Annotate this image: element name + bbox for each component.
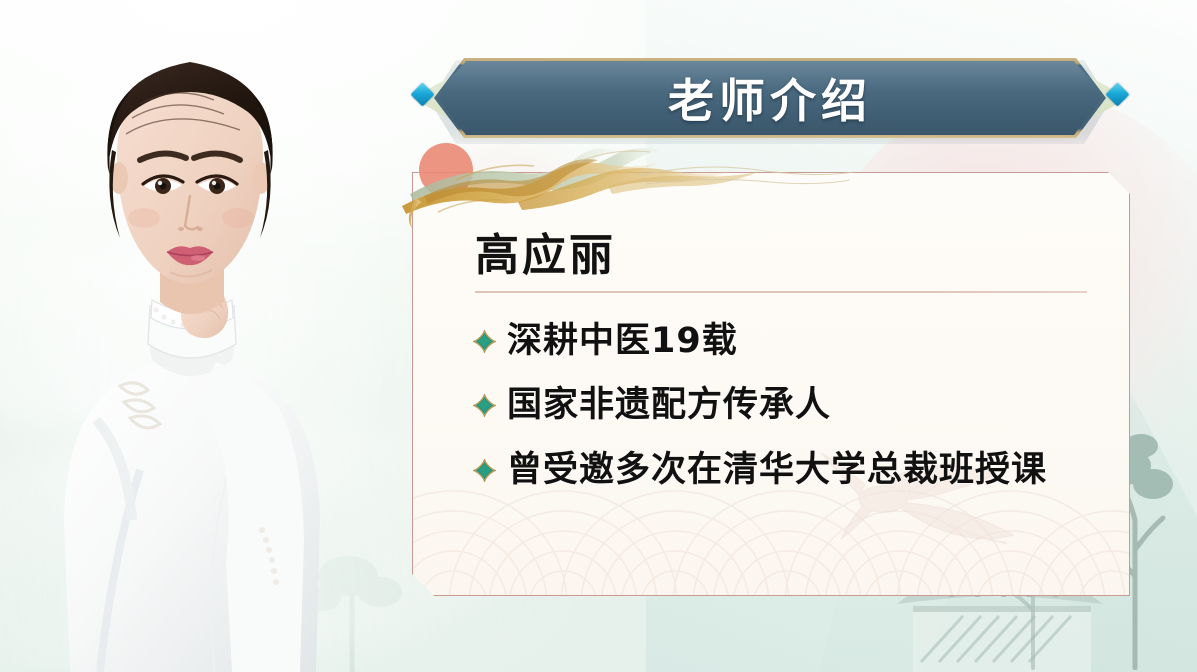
quatrefoil-bullet-icon [473, 394, 496, 417]
instructor-info-card: 高应丽 深耕中医19载 国家非遗配方 [412, 172, 1130, 596]
list-item-label: 曾受邀多次在清华大学总裁班授课 [507, 450, 1047, 491]
list-item-label: 深耕中医19载 [507, 321, 738, 362]
quatrefoil-bullet-icon [473, 459, 496, 482]
name-divider [475, 291, 1087, 293]
list-item-label: 国家非遗配方传承人 [507, 385, 831, 426]
banner-title-text: 老师介绍 [412, 52, 1128, 144]
instructor-portrait [0, 0, 380, 672]
list-item: 国家非遗配方传承人 [473, 385, 1093, 426]
instructor-name: 高应丽 [475, 219, 616, 283]
credentials-list: 深耕中医19载 国家非遗配方传承人 曾受邀多 [473, 321, 1093, 514]
title-banner: 老师介绍 [412, 52, 1128, 144]
slide-root: 老师介绍 [0, 0, 1197, 672]
list-item: 深耕中医19载 [473, 321, 1093, 362]
quatrefoil-bullet-icon [473, 330, 496, 353]
list-item: 曾受邀多次在清华大学总裁班授课 [473, 450, 1093, 491]
